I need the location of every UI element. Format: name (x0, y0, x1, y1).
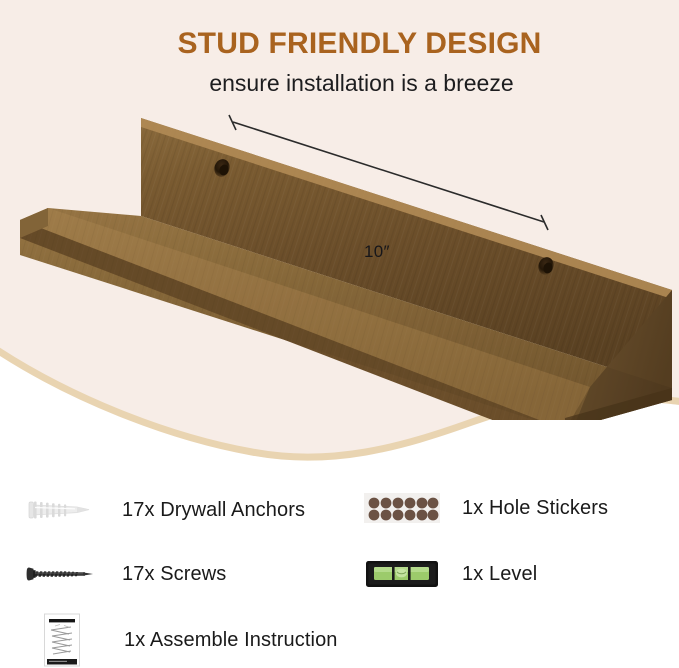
list-item-drywall-anchors: 17x Drywall Anchors (18, 488, 305, 532)
dimension-callout: 10″ (0, 100, 679, 260)
dimension-label: 10″ (364, 242, 390, 262)
list-item-label: 1x Hole Stickers (462, 497, 608, 520)
instruction-manual-icon (18, 612, 106, 668)
list-item-screws: 17x Screws (18, 552, 226, 596)
list-item-hole-stickers: 1x Hole Stickers (358, 486, 608, 530)
list-item-label: 1x Assemble Instruction (124, 629, 338, 652)
level-icon (358, 552, 446, 596)
list-item-level: 1x Level (358, 552, 537, 596)
product-marketing-image: 10″ STUD FRIENDLY DESIGN ensure installa… (0, 0, 679, 668)
dimension-line (0, 100, 679, 260)
hole-stickers-icon (358, 486, 446, 530)
drywall-anchor-icon (18, 488, 106, 532)
list-item-assemble-instruction: 1x Assemble Instruction (18, 612, 338, 668)
screw-icon (18, 552, 106, 596)
page-subtitle: ensure installation is a breeze (0, 70, 679, 98)
page-title: STUD FRIENDLY DESIGN (0, 27, 679, 60)
list-item-label: 1x Level (462, 563, 537, 586)
list-item-label: 17x Screws (122, 563, 226, 586)
accessories-list: 17x Drywall Anchors (0, 470, 679, 668)
list-item-label: 17x Drywall Anchors (122, 499, 305, 522)
